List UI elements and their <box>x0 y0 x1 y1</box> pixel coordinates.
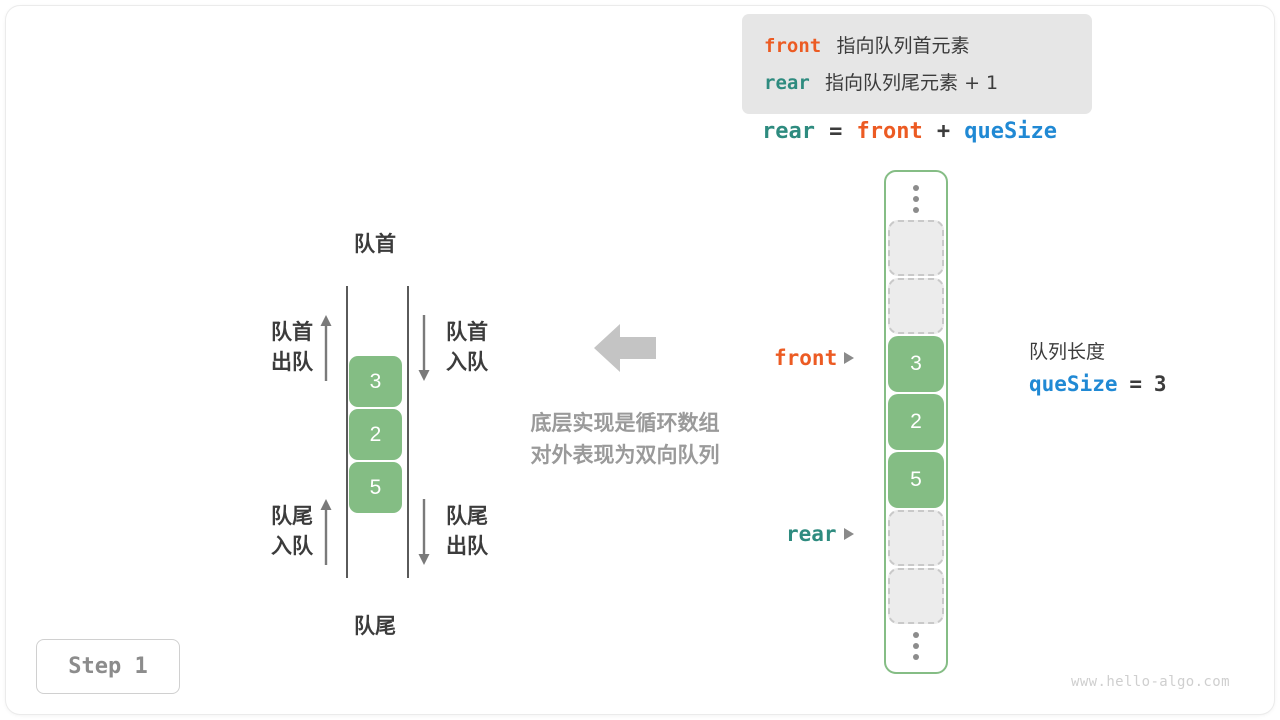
legend-desc-front: 指向队列首元素 <box>836 35 969 57</box>
deque-tail-title: 队尾 <box>315 610 435 640</box>
op-tail-dequeue-line2: 出队 <box>446 532 488 562</box>
rear-pointer-label: rear <box>786 522 854 546</box>
front-pointer-text: front <box>774 346 837 370</box>
array-cell-list: 3 2 5 <box>888 220 944 624</box>
legend-desc-rear: 指向队列尾元素 + 1 <box>825 72 998 94</box>
op-head-dequeue-line1: 队首 <box>251 318 313 348</box>
op-label-tail-dequeue: 队尾 出队 <box>446 502 488 562</box>
op-tail-enqueue-line1: 队尾 <box>251 502 313 532</box>
rear-pointer-text: rear <box>786 522 837 546</box>
legend-line-rear: rear 指向队列尾元素 + 1 <box>764 65 1072 102</box>
pointer-formula: rear = front + queSize <box>762 118 1057 144</box>
circular-array: 3 2 5 <box>884 170 948 674</box>
front-pointer-label: front <box>774 346 854 370</box>
array-top-ellipsis-icon <box>913 182 919 215</box>
op-head-dequeue-line2: 出队 <box>251 348 313 378</box>
legend-line-front: front 指向队列首元素 <box>764 28 1072 65</box>
arrow-up-head-dequeue-icon <box>318 315 334 386</box>
arrow-up-tail-enqueue-icon <box>318 499 334 570</box>
array-cell: 2 <box>888 394 944 450</box>
op-label-head-dequeue: 队首 出队 <box>251 318 313 378</box>
quesize-annotation: 队列长度 queSize = 3 <box>1029 338 1167 401</box>
arrow-right-icon <box>844 528 854 540</box>
watermark: www.hello-algo.com <box>1071 674 1230 690</box>
array-cell: 5 <box>888 452 944 508</box>
caption-line-2: 对外表现为双向队列 <box>504 440 746 472</box>
array-cell: 3 <box>888 336 944 392</box>
quesize-name: queSize <box>1029 372 1118 396</box>
quesize-title: 队列长度 <box>1029 338 1167 368</box>
implementation-caption: 底层实现是循环数组 对外表现为双向队列 <box>504 408 746 472</box>
arrow-down-tail-dequeue-icon <box>416 499 432 570</box>
quesize-number: 3 <box>1154 372 1167 396</box>
deque-head-title: 队首 <box>315 228 435 258</box>
op-head-enqueue-line2: 入队 <box>446 348 488 378</box>
deque-cell-list: 3 2 5 <box>349 356 402 513</box>
legend-term-front: front <box>764 35 821 57</box>
array-bottom-ellipsis-icon <box>913 629 919 662</box>
op-head-enqueue-line1: 队首 <box>446 318 488 348</box>
formula-quesize: queSize <box>964 119 1057 144</box>
array-cell <box>888 278 944 334</box>
array-cell <box>888 220 944 276</box>
op-label-head-enqueue: 队首 入队 <box>446 318 488 378</box>
deque-cell: 3 <box>349 356 402 407</box>
pointer-legend-box: front 指向队列首元素 rear 指向队列尾元素 + 1 <box>742 14 1092 114</box>
array-cell <box>888 568 944 624</box>
mapping-arrow-left-icon <box>594 322 656 379</box>
array-cell <box>888 510 944 566</box>
deque-cell: 2 <box>349 409 402 460</box>
op-tail-enqueue-line2: 入队 <box>251 532 313 562</box>
arrow-down-head-enqueue-icon <box>416 315 432 386</box>
op-tail-dequeue-line1: 队尾 <box>446 502 488 532</box>
op-label-tail-enqueue: 队尾 入队 <box>251 502 313 562</box>
formula-front: front <box>856 119 922 144</box>
quesize-value-row: queSize = 3 <box>1029 368 1167 401</box>
deque-rail-right <box>407 286 409 578</box>
legend-term-rear: rear <box>764 72 810 94</box>
arrow-right-icon <box>844 352 854 364</box>
step-badge: Step 1 <box>36 639 180 694</box>
caption-line-1: 底层实现是循环数组 <box>504 408 746 440</box>
formula-plus: + <box>937 119 950 144</box>
formula-equals: = <box>829 119 842 144</box>
deque-rail-left <box>346 286 348 578</box>
quesize-equals: = <box>1129 372 1142 396</box>
deque-cell: 5 <box>349 462 402 513</box>
diagram-canvas: front 指向队列首元素 rear 指向队列尾元素 + 1 rear = fr… <box>0 0 1280 720</box>
formula-rear: rear <box>762 119 815 144</box>
